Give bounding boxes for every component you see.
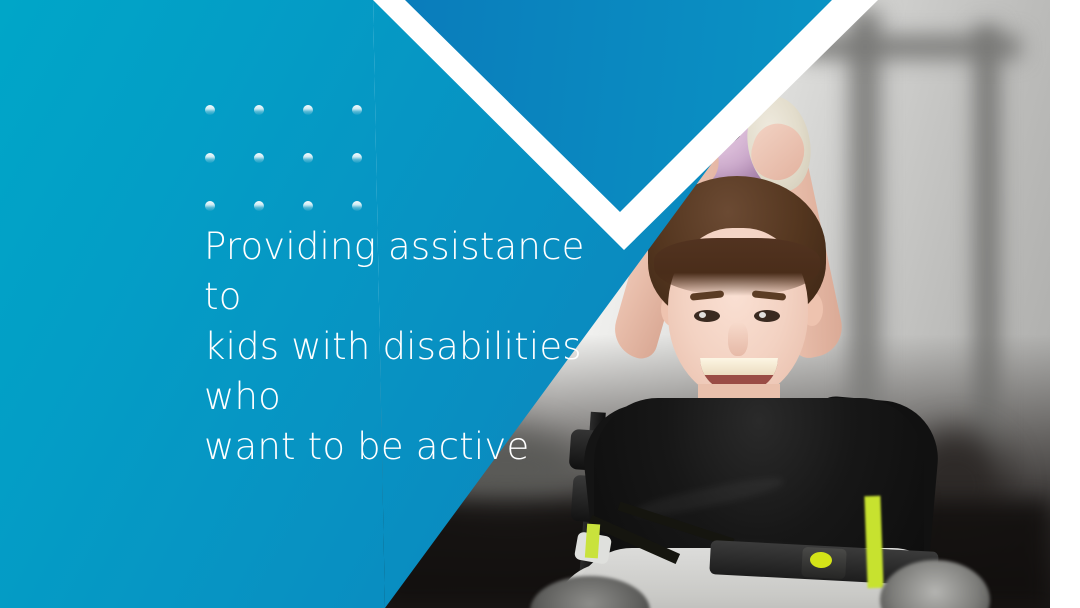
photo-white-margin-right [1050, 0, 1080, 608]
subject-left-eye [694, 310, 720, 322]
dot-grid-decoration [205, 105, 365, 215]
dot-7 [303, 153, 313, 163]
subject-nose [728, 322, 748, 356]
dot-9 [205, 201, 215, 211]
dot-4 [352, 105, 362, 115]
dot-8 [352, 153, 362, 163]
subject-teeth [700, 358, 778, 375]
subject-right-eye [754, 310, 780, 322]
headline-text: Providing assistance to kids with disabi… [204, 222, 624, 472]
dot-11 [303, 201, 313, 211]
wheelchair-accent-green-right [864, 496, 883, 589]
subject-hair-fringe [654, 238, 820, 296]
left-eye-highlight [699, 312, 706, 318]
dot-5 [205, 153, 215, 163]
slide-canvas: 2 [0, 0, 1080, 608]
wheelchair-accent-green-left [585, 524, 600, 559]
dot-6 [254, 153, 264, 163]
dot-12 [352, 201, 362, 211]
dot-2 [254, 105, 264, 115]
dot-10 [254, 201, 264, 211]
dot-1 [205, 105, 215, 115]
right-eye-highlight [759, 312, 766, 318]
dot-3 [303, 105, 313, 115]
